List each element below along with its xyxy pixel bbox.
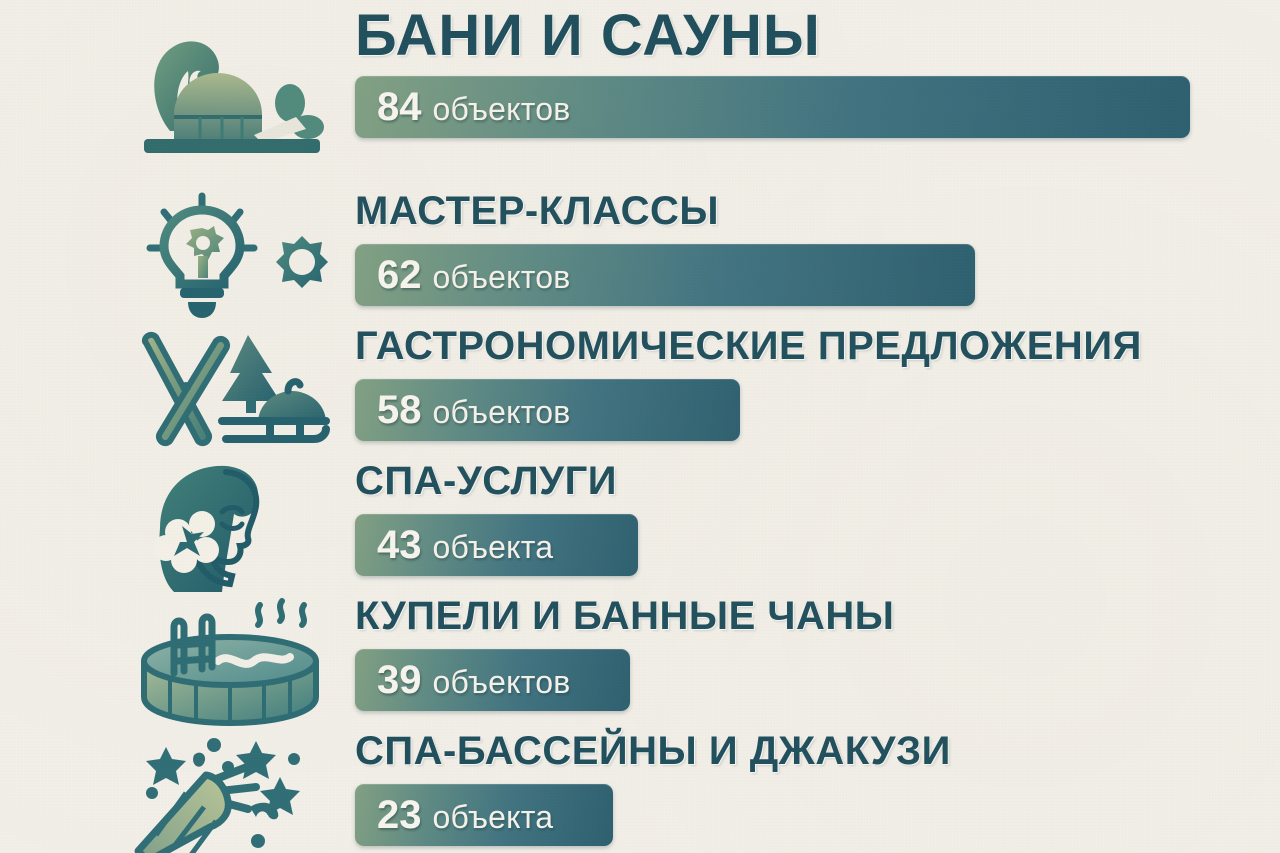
bar-unit: объектов xyxy=(433,394,571,431)
bar-label: 62 объектов xyxy=(355,253,570,298)
bar-count: 43 xyxy=(377,523,422,568)
infographic-root: БАНИ И САУНЫ 84 объектов xyxy=(0,0,1280,853)
bar-unit: объектов xyxy=(433,91,571,128)
bar-unit: объектов xyxy=(433,259,571,296)
bar-value: 84 объектов xyxy=(355,76,1190,138)
row-content: МАСТЕР-КЛАССЫ 62 объектов xyxy=(355,188,1280,323)
bar-value: 43 объекта xyxy=(355,514,638,576)
bar-count: 84 xyxy=(377,85,422,130)
row-content: СПА-БАССЕЙНЫ И ДЖАКУЗИ 23 объекта xyxy=(355,728,1280,853)
chart-row: ГАСТРОНОМИЧЕСКИЕ ПРЕДЛОЖЕНИЯ 58 объектов xyxy=(0,323,1280,458)
bar-unit: объекта xyxy=(433,799,554,836)
row-content: СПА-УСЛУГИ 43 объекта xyxy=(355,458,1280,593)
bar-value: 58 объектов xyxy=(355,379,740,441)
lightbulb-gear-icon xyxy=(120,194,340,318)
page-title: БАНИ И САУНЫ xyxy=(355,6,821,67)
bar-count: 58 xyxy=(377,388,422,433)
bar-value: 62 объектов xyxy=(355,244,975,306)
skis-tree-cloche-icon xyxy=(120,329,340,453)
bar-count: 23 xyxy=(377,793,422,838)
bar-label: 23 объекта xyxy=(355,793,553,838)
bar-label: 39 объектов xyxy=(355,658,570,703)
row-content: ГАСТРОНОМИЧЕСКИЕ ПРЕДЛОЖЕНИЯ 58 объектов xyxy=(355,323,1280,458)
bar-unit: объектов xyxy=(433,664,571,701)
bar-count: 62 xyxy=(377,253,422,298)
category-title: ГАСТРОНОМИЧЕСКИЕ ПРЕДЛОЖЕНИЯ xyxy=(355,325,1142,367)
bar-count: 39 xyxy=(377,658,422,703)
bar-value: 23 объекта xyxy=(355,784,613,846)
bar-value: 39 объектов xyxy=(355,649,630,711)
category-title: МАСТЕР-КЛАССЫ xyxy=(355,190,719,232)
row-content: КУПЕЛИ И БАННЫЕ ЧАНЫ 39 объектов xyxy=(355,593,1280,728)
chart-row: КУПЕЛИ И БАННЫЕ ЧАНЫ 39 объектов xyxy=(0,593,1280,728)
bar-label: 84 объектов xyxy=(355,85,570,130)
category-title: КУПЕЛИ И БАННЫЕ ЧАНЫ xyxy=(355,595,894,637)
woman-flower-icon xyxy=(120,464,340,588)
chart-row: СПА-БАССЕЙНЫ И ДЖАКУЗИ 23 объекта xyxy=(0,728,1280,853)
hot-tub-icon xyxy=(120,599,340,723)
row-content: БАНИ И САУНЫ 84 объектов xyxy=(355,18,1280,153)
chart-row: МАСТЕР-КЛАССЫ 62 объектов xyxy=(0,188,1280,323)
sauna-icon xyxy=(120,24,340,148)
chart-row: СПА-УСЛУГИ 43 объекта xyxy=(0,458,1280,593)
bar-label: 58 объектов xyxy=(355,388,570,433)
category-title: СПА-БАССЕЙНЫ И ДЖАКУЗИ xyxy=(355,730,951,772)
bar-label: 43 объекта xyxy=(355,523,553,568)
category-title: СПА-УСЛУГИ xyxy=(355,460,617,502)
chart-row: БАНИ И САУНЫ 84 объектов xyxy=(0,18,1280,153)
bar-unit: объекта xyxy=(433,529,554,566)
party-popper-icon xyxy=(120,734,340,853)
